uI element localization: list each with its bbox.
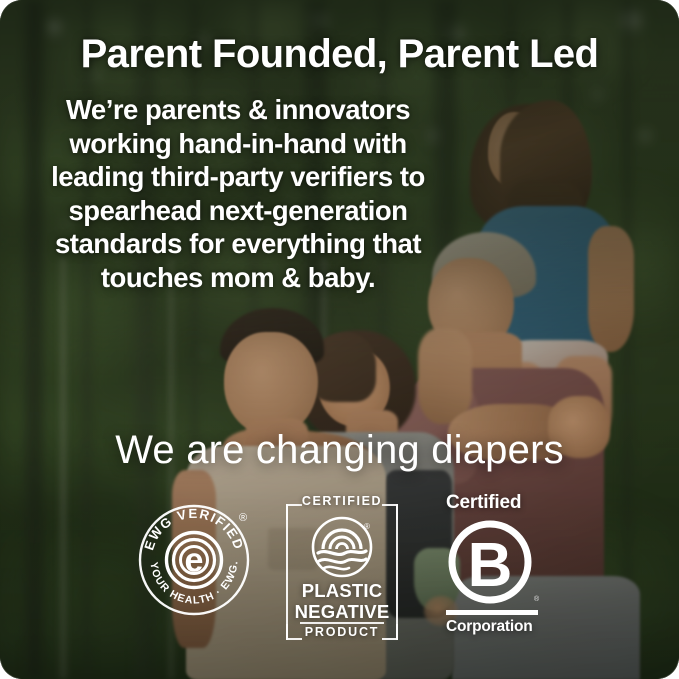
bcorp-registered-mark: ® <box>534 596 539 603</box>
promo-card: Parent Founded, Parent Led We’re parents… <box>0 0 679 679</box>
badge-ewg-verified: EWG VERIFIED FOR YOUR HEALTH · EWG.ORG ® <box>128 494 260 626</box>
page-title: Parent Founded, Parent Led <box>0 32 679 77</box>
plastic-negative-title-line-1: PLASTIC <box>302 580 383 601</box>
b-corp-circled-b-logo-icon: B <box>444 516 536 608</box>
plastic-negative-title-line-2: NEGATIVE <box>295 601 390 622</box>
svg-text:e: e <box>185 542 204 580</box>
badge-plastic-negative: CERTIFIED ® PLASTIC NEGATIVE <box>286 492 398 640</box>
plastic-negative-title: PLASTIC NEGATIVE <box>286 580 398 622</box>
svg-text:®: ® <box>364 522 370 531</box>
plastic-negative-sun-wave-logo-icon: ® <box>311 516 373 578</box>
svg-text:B: B <box>468 531 513 600</box>
tagline: We are changing diapers <box>0 428 679 473</box>
overlay-content: Parent Founded, Parent Led We’re parents… <box>0 0 679 679</box>
certification-badge-row: EWG VERIFIED FOR YOUR HEALTH · EWG.ORG ® <box>128 492 558 642</box>
badge-b-corporation: Certified B ® Corporation <box>444 492 550 640</box>
plastic-negative-divider <box>300 622 384 624</box>
body-copy: We’re parents & innovators working hand-… <box>36 93 440 294</box>
bcorp-corporation-label: Corporation <box>446 618 533 636</box>
plastic-negative-product-label: PRODUCT <box>286 625 398 639</box>
ewg-concentric-e-logo-icon: EWG VERIFIED FOR YOUR HEALTH · EWG.ORG ® <box>128 494 260 626</box>
bcorp-divider <box>446 610 538 615</box>
bcorp-certified-label: Certified <box>446 492 521 514</box>
plastic-negative-certified-label: CERTIFIED <box>286 494 398 508</box>
svg-text:®: ® <box>239 512 247 524</box>
